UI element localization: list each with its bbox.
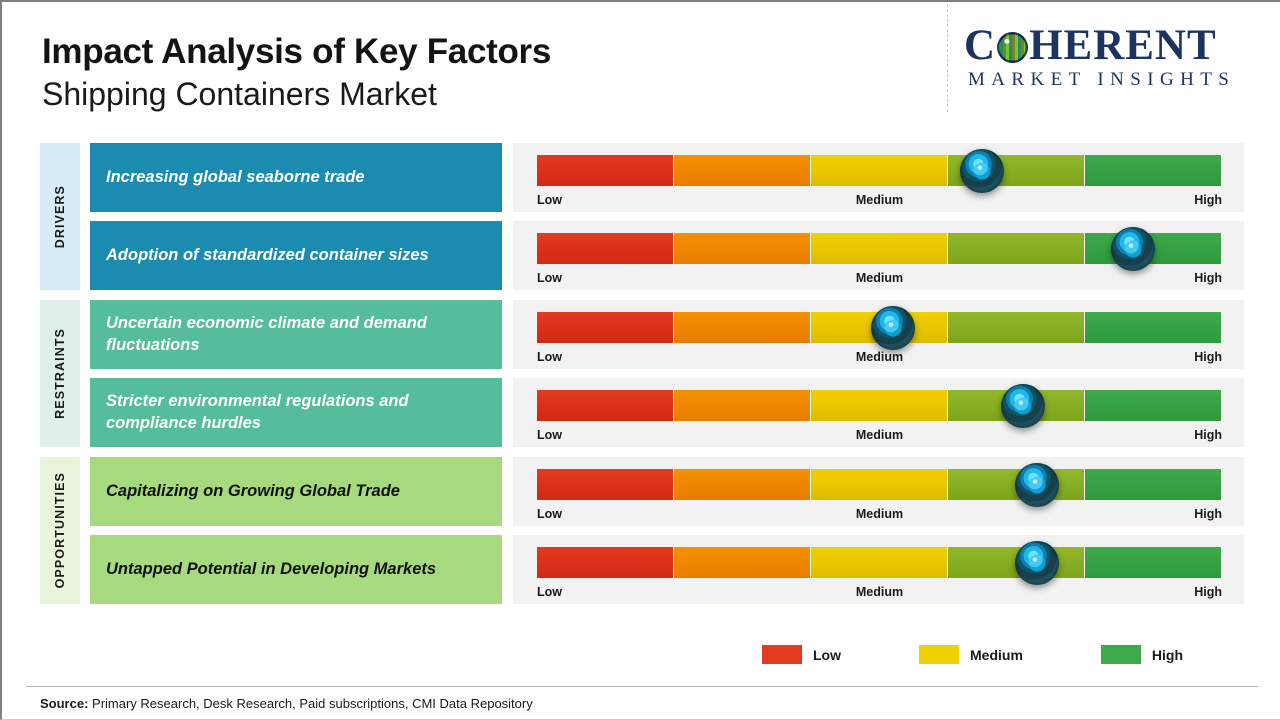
scale-label-medium: Medium: [856, 507, 903, 521]
table-row: Adoption of standardized container sizes: [90, 221, 1244, 290]
legend-item-high: High: [1101, 645, 1183, 664]
gauge-segment-high: [1085, 547, 1222, 578]
gauge-segment-low-medium: [674, 390, 811, 421]
category-strip-opportunities: OPPORTUNITIES: [40, 457, 80, 604]
gauge-segment-low-medium: [674, 312, 811, 343]
scale-label-high: High: [1194, 585, 1222, 599]
impact-marker: [1001, 384, 1045, 428]
gauge-segment-low-medium: [674, 547, 811, 578]
scale-label-medium: Medium: [856, 271, 903, 285]
impact-gauge: Low Medium High: [513, 535, 1244, 604]
logo-wordmark: C HERENT: [964, 24, 1264, 67]
gauge-segment-high: [1085, 469, 1222, 500]
scale-label-medium: Medium: [856, 428, 903, 442]
gauge-scale-labels: Low Medium High: [537, 585, 1222, 599]
factor-label: Capitalizing on Growing Global Trade: [106, 481, 400, 502]
category-rows-drivers: Increasing global seaborne trade Lo: [90, 143, 1244, 290]
impact-marker: [960, 149, 1004, 193]
gauge-bar: [537, 547, 1222, 578]
scale-label-low: Low: [537, 193, 562, 207]
legend-swatch-low: [762, 645, 802, 664]
scale-label-high: High: [1194, 507, 1222, 521]
legend-label-high: High: [1152, 647, 1183, 663]
scale-label-medium: Medium: [856, 350, 903, 364]
gauge-bar: [537, 155, 1222, 186]
category-group-drivers: DRIVERS Increasing global seaborne trade: [40, 143, 1244, 290]
category-group-opportunities: OPPORTUNITIES Capitalizing on Growing Gl…: [40, 457, 1244, 604]
scale-label-high: High: [1194, 193, 1222, 207]
source-line: Source: Primary Research, Desk Research,…: [40, 696, 533, 711]
gauge-segment-low-medium: [674, 233, 811, 264]
legend-label-medium: Medium: [970, 647, 1023, 663]
impact-gauge: Low Medium High: [513, 300, 1244, 369]
globe-icon: [997, 32, 1028, 63]
factor-box: Untapped Potential in Developing Markets: [90, 535, 502, 604]
gauge-segment-high: [1085, 155, 1222, 186]
page-subtitle: Shipping Containers Market: [42, 75, 551, 113]
impact-gauge: Low Medium High: [513, 143, 1244, 212]
infographic-page: Impact Analysis of Key Factors Shipping …: [0, 0, 1280, 720]
scale-label-low: Low: [537, 585, 562, 599]
scale-label-high: High: [1194, 350, 1222, 364]
category-rows-opportunities: Capitalizing on Growing Global Trade: [90, 457, 1244, 604]
gauge-segment-low: [537, 312, 674, 343]
gauge-bar: [537, 469, 1222, 500]
gauge-segment-low-medium: [674, 155, 811, 186]
impact-matrix: DRIVERS Increasing global seaborne trade: [40, 143, 1244, 614]
gauge-segment-low: [537, 233, 674, 264]
title-block: Impact Analysis of Key Factors Shipping …: [42, 32, 551, 114]
legend-swatch-medium: [919, 645, 959, 664]
table-row: Untapped Potential in Developing Markets: [90, 535, 1244, 604]
impact-marker: [1015, 541, 1059, 585]
factor-box: Increasing global seaborne trade: [90, 143, 502, 212]
chart-legend: Low Medium High: [762, 645, 1183, 664]
logo-letter-c: C: [964, 24, 996, 67]
legend-swatch-high: [1101, 645, 1141, 664]
gauge-segment-low: [537, 390, 674, 421]
factor-box: Stricter environmental regulations and c…: [90, 378, 502, 447]
factor-box: Uncertain economic climate and demand fl…: [90, 300, 502, 369]
gauge-bar: [537, 390, 1222, 421]
scale-label-low: Low: [537, 271, 562, 285]
scale-label-low: Low: [537, 428, 562, 442]
gauge-segment-low-medium: [674, 469, 811, 500]
gauge-segment-high: [1085, 390, 1222, 421]
factor-label: Increasing global seaborne trade: [106, 167, 365, 188]
gauge-segment-medium: [811, 469, 948, 500]
scale-label-low: Low: [537, 507, 562, 521]
gauge-segment-low: [537, 469, 674, 500]
category-label-opportunities: OPPORTUNITIES: [53, 472, 67, 588]
source-label: Source:: [40, 696, 88, 711]
gauge-scale-labels: Low Medium High: [537, 350, 1222, 364]
header: Impact Analysis of Key Factors Shipping …: [2, 2, 1280, 132]
gauge-segment-medium: [811, 390, 948, 421]
gauge-segment-medium: [811, 233, 948, 264]
gauge-bar: [537, 312, 1222, 343]
footer-divider: [26, 686, 1258, 687]
impact-marker: [1111, 227, 1155, 271]
category-rows-restraints: Uncertain economic climate and demand fl…: [90, 300, 1244, 447]
gauge-segment-low: [537, 547, 674, 578]
category-label-drivers: DRIVERS: [53, 185, 67, 248]
impact-gauge: Low Medium High: [513, 457, 1244, 526]
page-title: Impact Analysis of Key Factors: [42, 32, 551, 71]
gauge-segment-medium: [811, 155, 948, 186]
scale-label-medium: Medium: [856, 585, 903, 599]
factor-label: Untapped Potential in Developing Markets: [106, 559, 436, 580]
table-row: Stricter environmental regulations and c…: [90, 378, 1244, 447]
legend-label-low: Low: [813, 647, 841, 663]
gauge-bar: [537, 233, 1222, 264]
gauge-segment-medium-high: [948, 233, 1085, 264]
factor-box: Capitalizing on Growing Global Trade: [90, 457, 502, 526]
legend-item-medium: Medium: [919, 645, 1023, 664]
gauge-scale-labels: Low Medium High: [537, 271, 1222, 285]
scale-label-low: Low: [537, 350, 562, 364]
gauge-segment-high: [1085, 312, 1222, 343]
category-label-restraints: RESTRAINTS: [53, 328, 67, 419]
gauge-segment-medium: [811, 547, 948, 578]
gauge-scale-labels: Low Medium High: [537, 193, 1222, 207]
logo-letters-herent: HERENT: [1029, 24, 1217, 67]
source-text: Primary Research, Desk Research, Paid su…: [88, 696, 532, 711]
table-row: Uncertain economic climate and demand fl…: [90, 300, 1244, 369]
table-row: Capitalizing on Growing Global Trade: [90, 457, 1244, 526]
header-dashed-divider: [947, 4, 948, 112]
scale-label-high: High: [1194, 271, 1222, 285]
category-strip-restraints: RESTRAINTS: [40, 300, 80, 447]
gauge-scale-labels: Low Medium High: [537, 428, 1222, 442]
scale-label-high: High: [1194, 428, 1222, 442]
legend-item-low: Low: [762, 645, 841, 664]
impact-marker: [871, 306, 915, 350]
gauge-segment-low: [537, 155, 674, 186]
category-group-restraints: RESTRAINTS Uncertain economic climate an…: [40, 300, 1244, 447]
factor-label: Stricter environmental regulations and c…: [106, 391, 486, 433]
category-strip-drivers: DRIVERS: [40, 143, 80, 290]
factor-label: Adoption of standardized container sizes: [106, 245, 429, 266]
gauge-segment-medium-high: [948, 312, 1085, 343]
company-logo: C HERENT MARKET INSIGHTS: [964, 24, 1264, 91]
logo-tagline: MARKET INSIGHTS: [968, 69, 1264, 91]
impact-gauge: Low Medium High: [513, 378, 1244, 447]
impact-gauge: Low Medium High: [513, 221, 1244, 290]
factor-label: Uncertain economic climate and demand fl…: [106, 313, 486, 355]
impact-marker: [1015, 463, 1059, 507]
table-row: Increasing global seaborne trade Lo: [90, 143, 1244, 212]
gauge-scale-labels: Low Medium High: [537, 507, 1222, 521]
scale-label-medium: Medium: [856, 193, 903, 207]
factor-box: Adoption of standardized container sizes: [90, 221, 502, 290]
